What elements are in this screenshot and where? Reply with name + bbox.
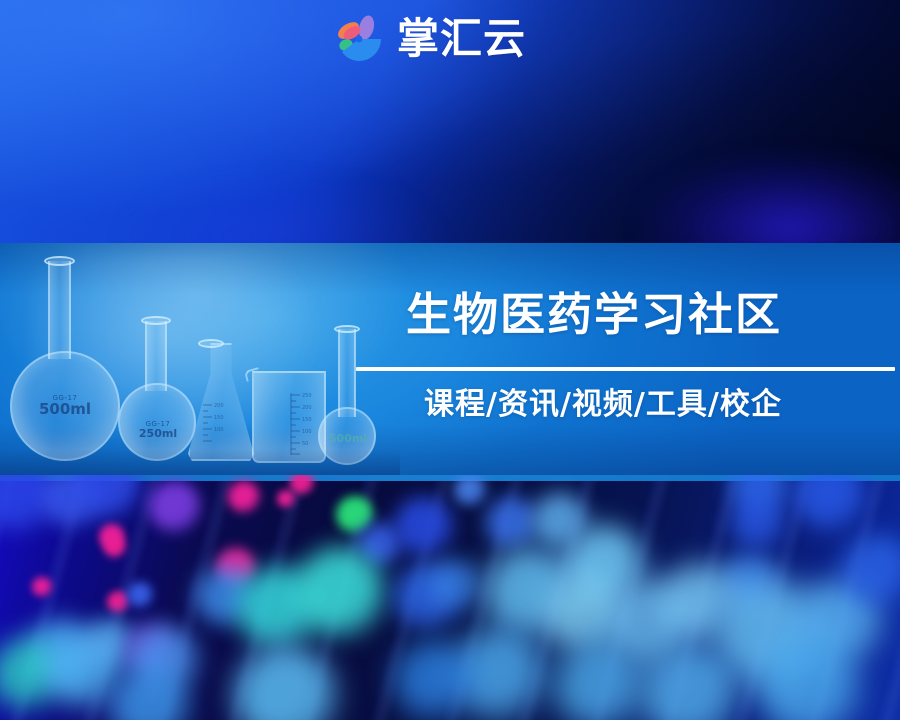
pinwheel-petals-logo-icon [333, 13, 385, 65]
flask-small-rim [141, 316, 171, 325]
flask-small-neck [145, 321, 167, 391]
title-divider [356, 367, 895, 371]
volumetric-flask-rim [334, 325, 360, 333]
svg-text:250: 250 [302, 393, 312, 399]
svg-text:200: 200 [302, 405, 312, 411]
svg-text:200: 200 [214, 403, 224, 409]
svg-text:150: 150 [302, 417, 312, 423]
glassware-shadow [0, 449, 400, 475]
volumetric-flask-neck [338, 329, 356, 417]
course-banner: GG-17 500ml GG-17 250ml [0, 243, 900, 475]
hero-glow-bottom-left [120, 178, 440, 243]
svg-text:50: 50 [302, 441, 308, 447]
erlenmeyer-rim [198, 339, 224, 348]
brand-logo-lockup[interactable]: 掌汇云 [333, 10, 526, 68]
bokeh-top-edge [0, 475, 900, 481]
hero-glow-bottom-right [640, 153, 900, 243]
promo-page: 掌汇云 GG-17 500ml GG-17 250ml [0, 0, 900, 720]
svg-text:100: 100 [214, 427, 224, 433]
erlenmeyer-scale-icon: 200150100 [203, 401, 231, 451]
brand-name: 掌汇云 [397, 18, 526, 60]
round-bottom-flask-large-icon [10, 351, 120, 461]
bokeh-fiber-streaks [0, 475, 900, 720]
flask-large-rim [44, 256, 75, 266]
page-subtitle: 课程/资讯/视频/工具/校企 [424, 387, 782, 423]
svg-text:150: 150 [214, 415, 224, 421]
bokeh-lights-section [0, 475, 900, 720]
laboratory-glassware-illustration: GG-17 500ml GG-17 250ml [0, 243, 400, 475]
beaker-scale-icon: 250200150 10050 [290, 391, 320, 457]
page-title: 生物医药学习社区 [406, 292, 782, 337]
hero-banner: 掌汇云 [0, 0, 900, 243]
svg-text:100: 100 [302, 429, 312, 435]
flask-large-neck [48, 261, 71, 359]
